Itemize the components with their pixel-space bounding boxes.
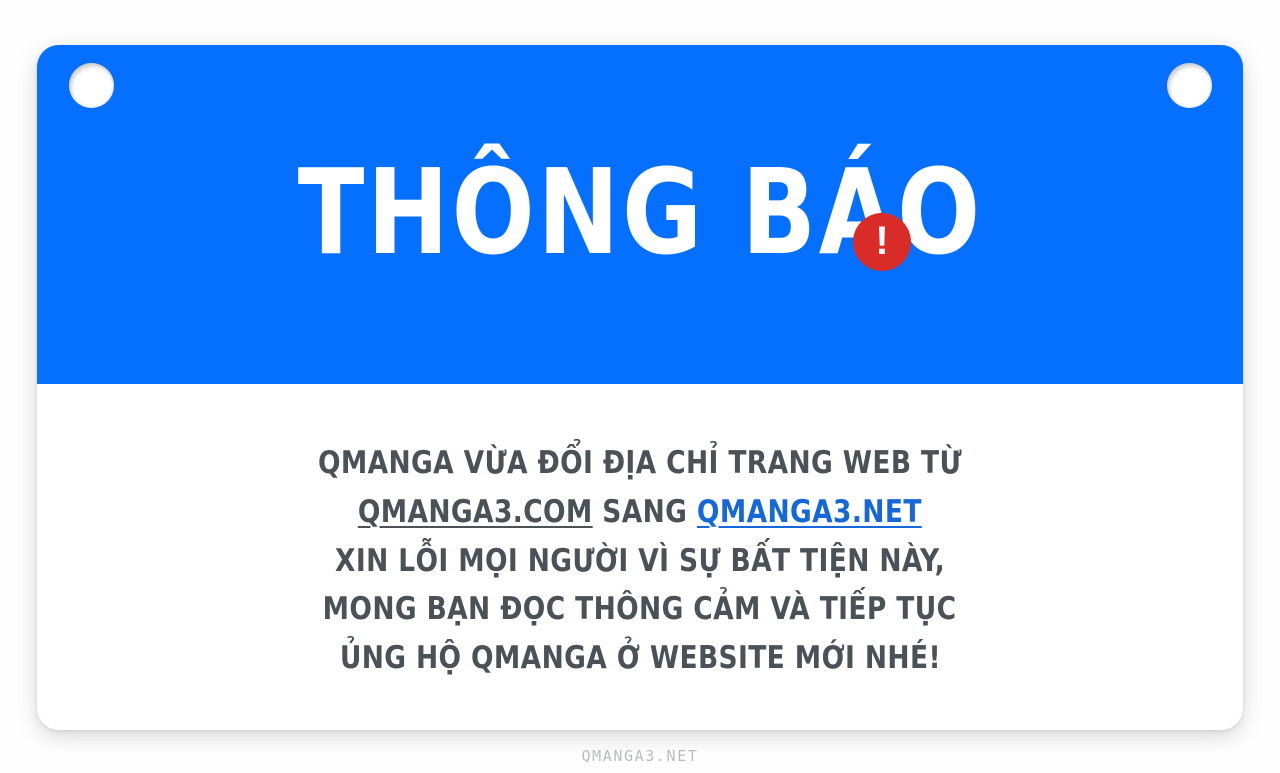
notice-line-4: MONG BẠN ĐỌC THÔNG CẢM VÀ TIẾP TỤC bbox=[323, 585, 957, 634]
old-domain-link[interactable]: QMANGA3.COM bbox=[358, 494, 593, 530]
new-domain-link[interactable]: QMANGA3.NET bbox=[697, 494, 922, 530]
exclamation-icon: ! bbox=[875, 221, 888, 261]
notice-line-2: QMANGA3.COM SANG QMANGA3.NET bbox=[358, 488, 922, 537]
notice-line-4-text: MONG BẠN ĐỌC THÔNG CẢM VÀ TIẾP TỤC bbox=[323, 591, 957, 627]
announcement-card: THÔNG BÁO ! QMANGA VỪA ĐỔI ĐỊA CHỈ TRANG… bbox=[37, 45, 1243, 730]
punch-hole-right-icon bbox=[1167, 63, 1212, 108]
notice-line-1: QMANGA VỪA ĐỔI ĐỊA CHỈ TRANG WEB TỪ bbox=[318, 439, 962, 488]
notice-line-1-text: QMANGA VỪA ĐỔI ĐỊA CHỈ TRANG WEB TỪ bbox=[318, 445, 962, 481]
card-header-banner: THÔNG BÁO ! bbox=[37, 45, 1243, 384]
notice-line-5: ỦNG HỘ QMANGA Ở WEBSITE MỚI NHÉ! bbox=[339, 634, 940, 683]
punch-hole-left-icon bbox=[69, 63, 114, 108]
notice-line-3: XIN LỖI MỌI NGƯỜI VÌ SỰ BẤT TIỆN NÀY, bbox=[335, 537, 945, 586]
alert-badge: ! bbox=[853, 213, 911, 271]
domain-connector-text: SANG bbox=[593, 494, 697, 530]
card-body: QMANGA VỪA ĐỔI ĐỊA CHỈ TRANG WEB TỪ QMAN… bbox=[37, 384, 1243, 730]
notice-line-3-text: XIN LỖI MỌI NGƯỜI VÌ SỰ BẤT TIỆN NÀY, bbox=[335, 543, 945, 579]
notice-line-5-text: ỦNG HỘ QMANGA Ở WEBSITE MỚI NHÉ! bbox=[339, 640, 940, 676]
footer-watermark: QMANGA3.NET bbox=[0, 747, 1280, 765]
title-row: THÔNG BÁO ! bbox=[37, 153, 1243, 271]
